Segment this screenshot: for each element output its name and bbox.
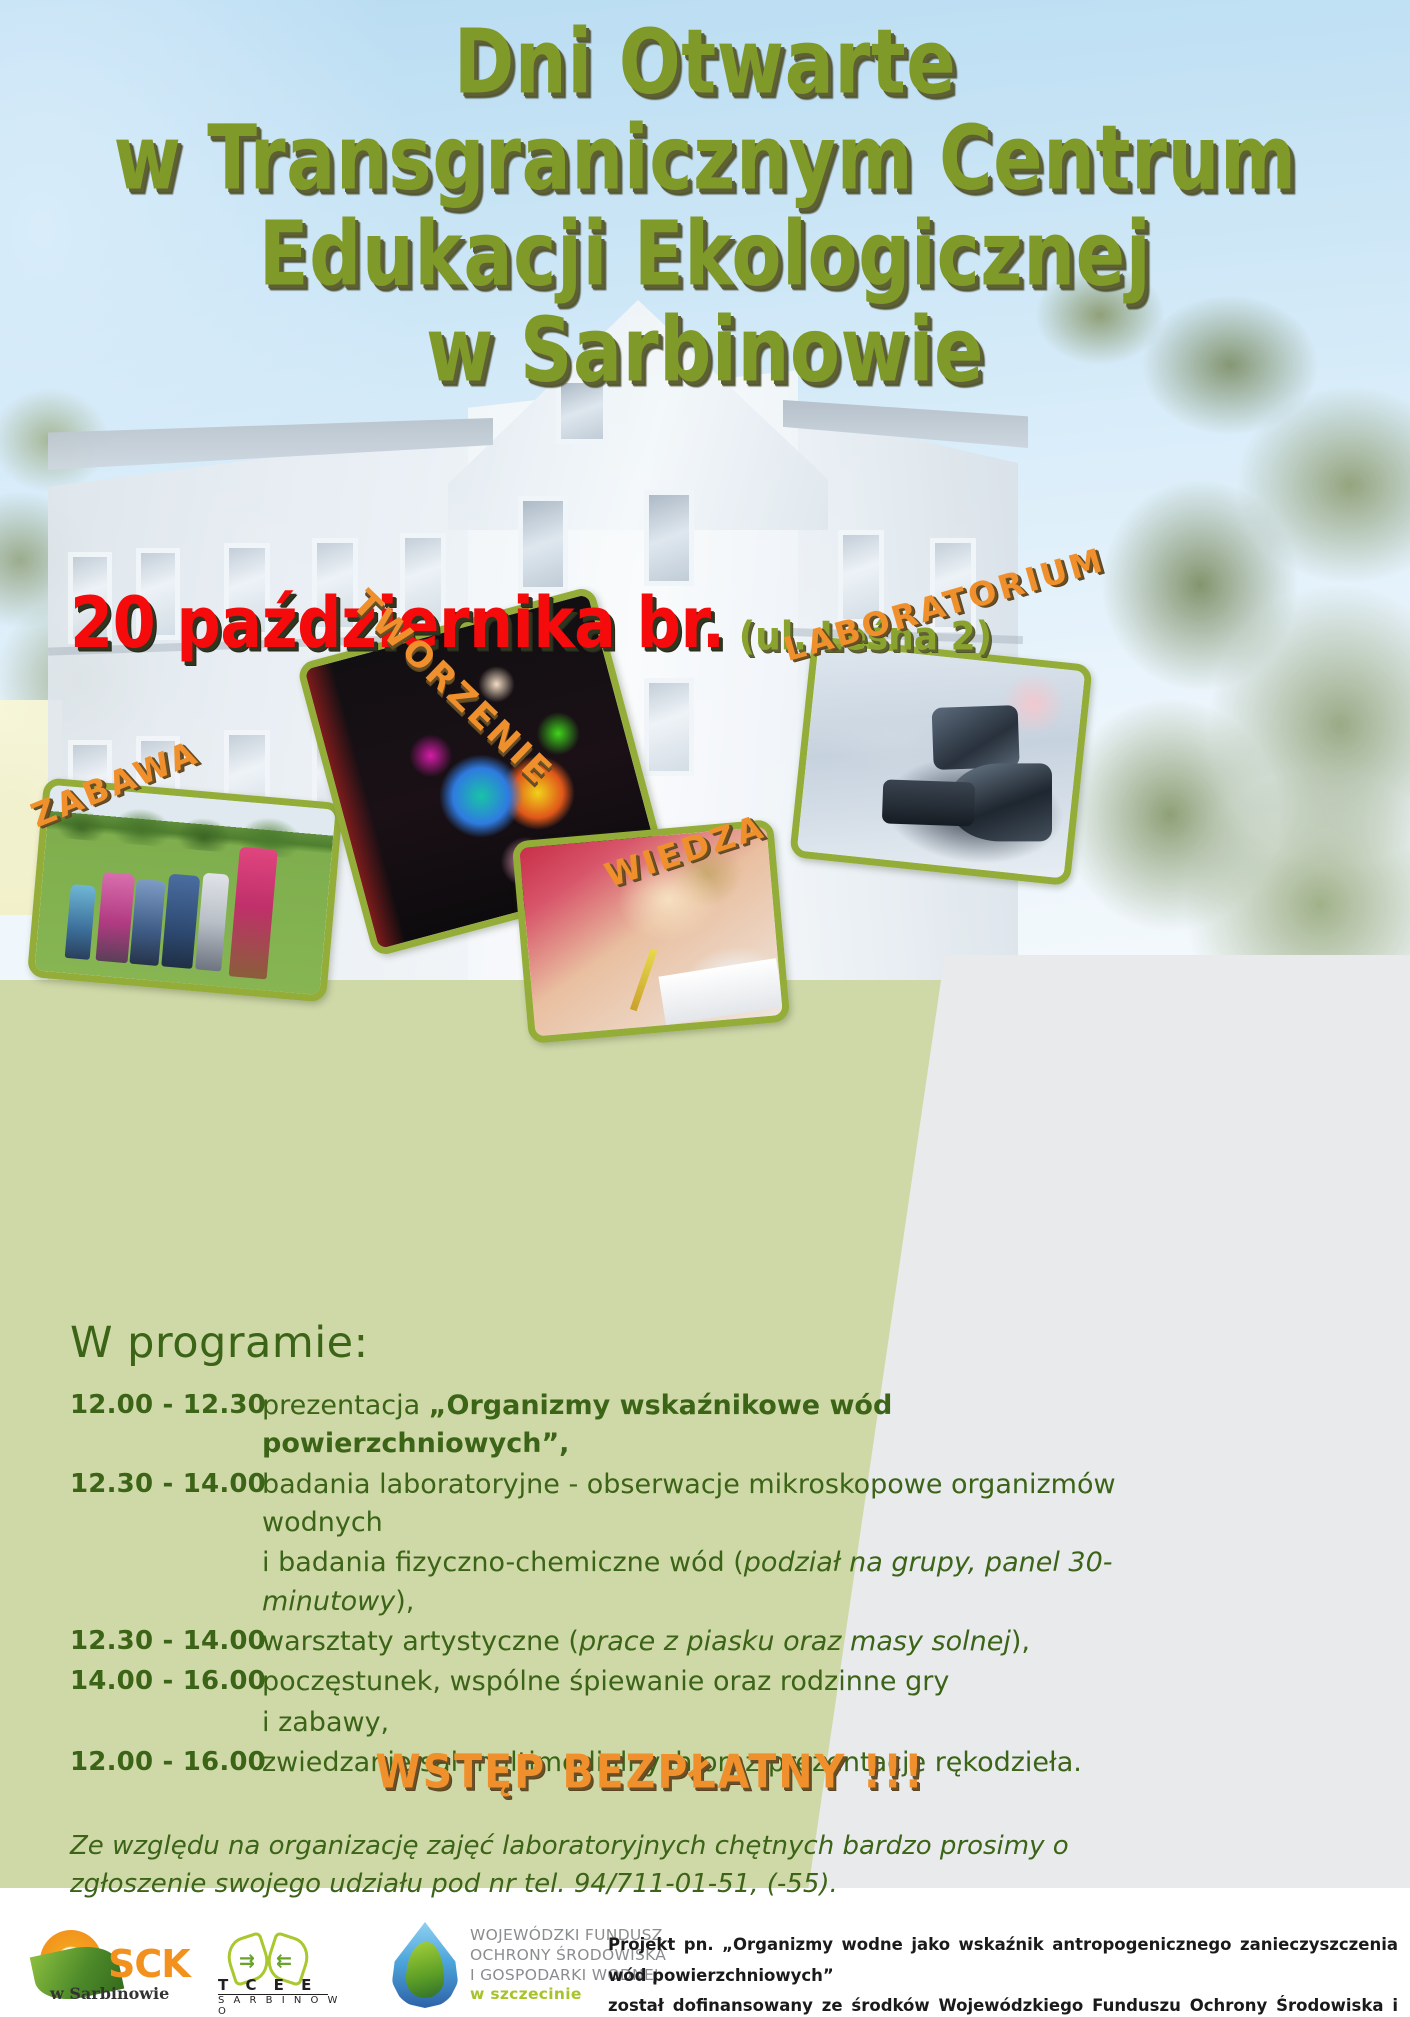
program-row: 12.30 - 14.00badania laboratoryjne - obs… — [70, 1466, 1160, 1543]
project-funding-line-2: został dofinansowany ze środków Wojewódz… — [608, 1991, 1398, 2017]
arrow-left-icon: ⇇ — [276, 1950, 292, 1972]
photo-microscope-base — [882, 779, 975, 826]
program-heading: W programie: — [70, 1318, 369, 1368]
building-window — [644, 490, 694, 586]
free-entry-text: WSTĘP BEZPŁATNY !!! — [375, 1745, 924, 1799]
logo-sck-mark: SCK — [108, 1942, 190, 1986]
program-description: poczęstunek, wspólne śpiewanie oraz rodz… — [262, 1663, 1160, 1701]
building-window — [518, 496, 568, 592]
water-drop-icon — [392, 1922, 458, 2008]
building-window — [644, 678, 694, 776]
program-row: 12.30 - 14.00warsztaty artystyczne (prac… — [70, 1623, 1160, 1661]
program-time: 12.30 - 14.00 — [70, 1466, 262, 1503]
logo-tcee: ⇉ ⇇ T C E E S A R B I N O W O — [212, 1936, 342, 2002]
logo-tcee-subtitle: S A R B I N O W O — [218, 1995, 342, 2017]
title-line-1: Dni Otwarte — [0, 18, 1410, 107]
title-line-2: w Transgranicznym Centrum — [0, 114, 1410, 203]
program-row: i zabawy, — [70, 1704, 1160, 1742]
program-description: i badania fizyczno-chemiczne wód (podzia… — [262, 1544, 1160, 1621]
photo-child — [64, 884, 96, 960]
project-funding-note: Projekt pn. „Organizmy wodne jako wskaźn… — [608, 1930, 1398, 2017]
photo-notebook — [658, 958, 783, 1025]
title-line-4: w Sarbinowie — [0, 306, 1410, 395]
photo-child — [195, 873, 229, 972]
registration-note: Ze względu na organizację zajęć laborato… — [70, 1828, 1080, 1903]
logo-sck: SCK w Sarbinowie — [32, 1928, 182, 2004]
program-row: 14.00 - 16.00poczęstunek, wspólne śpiewa… — [70, 1663, 1160, 1701]
project-funding-line-1: Projekt pn. „Organizmy wodne jako wskaźn… — [608, 1930, 1398, 1991]
program-row: 12.00 - 12.30prezentacja „Organizmy wska… — [70, 1387, 1160, 1464]
arrow-right-icon: ⇉ — [239, 1950, 255, 1972]
program-description: prezentacja „Organizmy wskaźnikowe wód p… — [262, 1387, 1160, 1464]
photo-card-laboratorium — [789, 636, 1093, 886]
photo-child — [161, 874, 200, 969]
poster-canvas: Dni Otwarte w Transgranicznym Centrum Ed… — [0, 0, 1410, 2017]
logo-sck-subtitle: w Sarbinowie — [50, 1984, 169, 2003]
free-entry-banner: WSTĘP BEZPŁATNY !!! — [0, 1748, 1410, 1796]
program-description: warsztaty artystyczne (prace z piasku or… — [262, 1623, 1160, 1661]
leaf-icon — [406, 1942, 444, 1998]
photo-microscope — [797, 644, 1085, 879]
photo-microscope-body — [932, 705, 1020, 770]
program-time: 14.00 - 16.00 — [70, 1663, 262, 1700]
photo-child — [130, 878, 166, 966]
photo-child — [96, 872, 135, 964]
page-title: Dni Otwarte w Transgranicznym Centrum Ed… — [0, 18, 1410, 379]
title-line-3: Edukacji Ekologicznej — [0, 210, 1410, 299]
program-schedule-table: 12.00 - 12.30prezentacja „Organizmy wska… — [70, 1387, 1160, 1782]
program-row: i badania fizyczno-chemiczne wód (podzia… — [70, 1544, 1160, 1621]
logo-tcee-mark: T C E E — [218, 1976, 317, 1994]
program-description: badania laboratoryjne - obserwacje mikro… — [262, 1466, 1160, 1543]
photo-child — [229, 846, 277, 979]
program-description: i zabawy, — [262, 1704, 1160, 1742]
program-time: 12.30 - 14.00 — [70, 1623, 262, 1660]
program-time: 12.00 - 12.30 — [70, 1387, 262, 1424]
photo-pencil — [630, 948, 657, 1011]
